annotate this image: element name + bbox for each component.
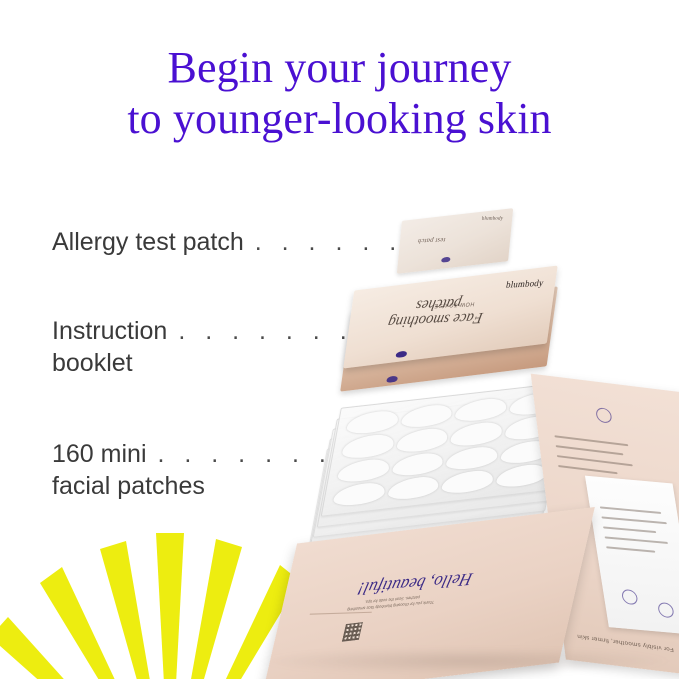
facial-patch xyxy=(395,427,449,454)
sachet-label: test patch xyxy=(417,236,446,244)
facial-patch xyxy=(341,433,395,460)
patch-grid xyxy=(332,391,562,508)
facial-patch xyxy=(337,457,391,484)
callout-allergy-test-patch: Allergy test patch. . . . . . . . xyxy=(52,226,456,258)
page-title: Begin your journey to younger-looking sk… xyxy=(0,42,679,144)
facial-patch xyxy=(391,451,445,478)
instruction-step-icon xyxy=(621,589,639,605)
facial-patch xyxy=(495,462,549,489)
facial-patch xyxy=(440,469,494,496)
callout-label-text-2: booklet xyxy=(52,347,380,379)
headline-line-2: to younger-looking skin xyxy=(0,93,679,144)
callout-label-text: Instruction xyxy=(52,317,167,345)
infographic-canvas: Begin your journey to younger-looking sk… xyxy=(0,0,679,679)
booklet-title: Face smoothing patches xyxy=(375,292,499,330)
instruction-leaflet xyxy=(585,476,679,635)
facial-patch xyxy=(445,445,499,472)
sachet-brand: blumbody xyxy=(481,216,503,221)
qr-code-icon xyxy=(342,622,363,642)
allergy-test-patch-sachet: blumbody test patch xyxy=(397,208,513,274)
box-shadow xyxy=(255,648,675,674)
facial-patch xyxy=(345,409,399,436)
dot-leader: . . . . . . . xyxy=(158,440,333,468)
facial-patch xyxy=(454,397,508,424)
brand-mark-icon xyxy=(386,375,398,382)
instruction-step-icon xyxy=(595,407,612,424)
callout-label-text: 160 mini xyxy=(52,440,147,468)
box-crease xyxy=(310,612,372,615)
headline-line-1: Begin your journey xyxy=(168,43,512,92)
instruction-step-icon xyxy=(657,602,675,618)
facial-patch xyxy=(400,403,454,430)
facial-patch xyxy=(449,421,503,448)
brand-mark-icon xyxy=(395,351,407,358)
brand-mark-icon xyxy=(441,257,450,263)
callout-instruction-booklet: Instruction. . . . . . . . booklet xyxy=(52,315,380,379)
facial-patch xyxy=(386,475,440,502)
callout-facial-patches: 160 mini. . . . . . . facial patches xyxy=(52,438,332,502)
callout-label-text: Allergy test patch xyxy=(52,228,244,256)
booklet-brand: blumbody xyxy=(505,278,544,290)
facial-patch xyxy=(332,481,386,508)
